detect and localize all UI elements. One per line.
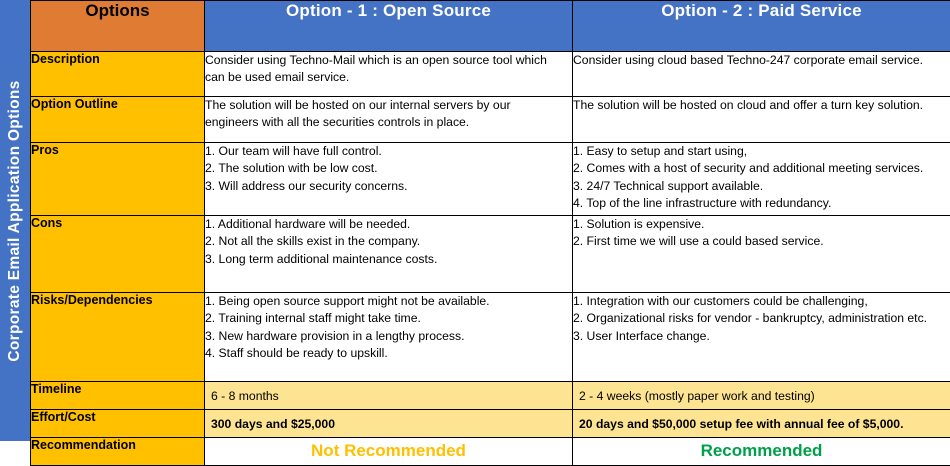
side-title-label: Corporate Email Application Options <box>6 80 24 361</box>
text-line: 1. Being open source support might not b… <box>205 293 572 310</box>
text-line: 2. Comes with a host of security and add… <box>573 160 950 177</box>
text-lines: 1. Easy to setup and start using,2. Come… <box>573 143 950 212</box>
text-line: Consider using Techno-Mail which is an o… <box>205 52 572 69</box>
text-lines: Consider using Techno-Mail which is an o… <box>205 52 572 87</box>
recommendation-badge-option-1: Not Recommended <box>205 438 573 466</box>
row-label-risks-dependencies: Risks/Dependencies <box>31 293 205 382</box>
cell-option-outline-option-1: The solution will be hosted on our inter… <box>205 97 573 143</box>
text-line: 2 - 4 weeks (mostly paper work and testi… <box>579 389 944 404</box>
options-comparison-table: Options Option - 1 : Open Source Option … <box>30 0 950 466</box>
table-row-timeline: Timeline 6 - 8 months 2 - 4 weeks (mostl… <box>31 382 950 410</box>
comparison-table-wrapper: Options Option - 1 : Open Source Option … <box>30 0 950 441</box>
row-label-cons: Cons <box>31 216 205 293</box>
cell-effort-cost-option-1: 300 days and $25,000 <box>205 410 573 438</box>
text-lines: 2 - 4 weeks (mostly paper work and testi… <box>579 389 944 404</box>
text-line: 3. New hardware provision in a lengthy p… <box>205 328 572 345</box>
table-header-row: Options Option - 1 : Open Source Option … <box>31 1 950 52</box>
table-row-recommendation: Recommendation Not Recommended Recommend… <box>31 438 950 466</box>
text-lines: 1. Our team will have full control.2. Th… <box>205 143 572 195</box>
text-line: 3. Will address our security concerns. <box>205 178 572 195</box>
row-label-option-outline: Option Outline <box>31 97 205 143</box>
text-line: 2. First time we will use a could based … <box>573 233 950 250</box>
text-lines: 1. Integration with our customers could … <box>573 293 950 345</box>
text-line: 1. Integration with our customers could … <box>573 293 950 310</box>
text-line: 300 days and $25,000 <box>211 417 566 432</box>
cell-effort-cost-option-2: 20 days and $50,000 setup fee with annua… <box>573 410 950 438</box>
cell-description-option-2: Consider using cloud based Techno-247 co… <box>573 52 950 97</box>
recommendation-badge-option-2: Recommended <box>573 438 950 466</box>
text-line: can be used email service. <box>205 69 572 86</box>
table-row-option-outline: Option Outline The solution will be host… <box>31 97 950 143</box>
cell-description-option-1: Consider using Techno-Mail which is an o… <box>205 52 573 97</box>
text-line: 2. The solution with be low cost. <box>205 160 572 177</box>
row-label-effort-cost: Effort/Cost <box>31 410 205 438</box>
text-line: 20 days and $50,000 setup fee with annua… <box>579 417 944 432</box>
text-line: 2. Training internal staff might take ti… <box>205 310 572 327</box>
table-row-cons: Cons 1. Additional hardware will be need… <box>31 216 950 293</box>
table-row-effort-cost: Effort/Cost 300 days and $25,000 20 days… <box>31 410 950 438</box>
text-lines: The solution will be hosted on our inter… <box>205 97 572 132</box>
cell-option-outline-option-2: The solution will be hosted on cloud and… <box>573 97 950 143</box>
text-line: 4. Top of the line infrastructure with r… <box>573 195 950 212</box>
table-row-pros: Pros 1. Our team will have full control.… <box>31 143 950 216</box>
text-lines: 300 days and $25,000 <box>211 417 566 432</box>
row-label-timeline: Timeline <box>31 382 205 410</box>
cell-timeline-option-2: 2 - 4 weeks (mostly paper work and testi… <box>573 382 950 410</box>
text-line: engineers with all the securities contro… <box>205 114 572 131</box>
text-line: 1. Additional hardware will be needed. <box>205 216 572 233</box>
text-line: 4. Staff should be ready to upskill. <box>205 345 572 362</box>
text-lines: The solution will be hosted on cloud and… <box>573 97 950 114</box>
text-lines: 1. Being open source support might not b… <box>205 293 572 362</box>
header-cell-option-1: Option - 1 : Open Source <box>205 1 573 52</box>
cell-risks-option-2: 1. Integration with our customers could … <box>573 293 950 382</box>
table-row-risks-dependencies: Risks/Dependencies 1. Being open source … <box>31 293 950 382</box>
cell-pros-option-1: 1. Our team will have full control.2. Th… <box>205 143 573 216</box>
text-line: 1. Easy to setup and start using, <box>573 143 950 160</box>
text-lines: 20 days and $50,000 setup fee with annua… <box>579 417 944 432</box>
text-line: 3. User Interface change. <box>573 328 950 345</box>
text-line: The solution will be hosted on our inter… <box>205 97 572 114</box>
cell-cons-option-1: 1. Additional hardware will be needed.2.… <box>205 216 573 293</box>
text-line: 6 - 8 months <box>211 389 566 404</box>
text-lines: 1. Additional hardware will be needed.2.… <box>205 216 572 268</box>
text-lines: 6 - 8 months <box>211 389 566 404</box>
header-cell-options: Options <box>31 1 205 52</box>
text-line: 2. Organizational risks for vendor - ban… <box>573 310 950 327</box>
text-line: 1. Solution is expensive. <box>573 216 950 233</box>
side-title-band: Corporate Email Application Options <box>0 0 30 441</box>
options-comparison-page: Corporate Email Application Options Opti… <box>0 0 950 441</box>
text-lines: 1. Solution is expensive.2. First time w… <box>573 216 950 251</box>
row-label-pros: Pros <box>31 143 205 216</box>
text-line: 1. Our team will have full control. <box>205 143 572 160</box>
text-line: Consider using cloud based Techno-247 co… <box>573 52 950 69</box>
row-label-description: Description <box>31 52 205 97</box>
header-cell-option-2: Option - 2 : Paid Service <box>573 1 950 52</box>
cell-cons-option-2: 1. Solution is expensive.2. First time w… <box>573 216 950 293</box>
cell-timeline-option-1: 6 - 8 months <box>205 382 573 410</box>
cell-pros-option-2: 1. Easy to setup and start using,2. Come… <box>573 143 950 216</box>
cell-risks-option-1: 1. Being open source support might not b… <box>205 293 573 382</box>
text-lines: Consider using cloud based Techno-247 co… <box>573 52 950 69</box>
text-line: The solution will be hosted on cloud and… <box>573 97 950 114</box>
text-line: 3. 24/7 Technical support available. <box>573 178 950 195</box>
text-line: 3. Long term additional maintenance cost… <box>205 251 572 268</box>
text-line: 2. Not all the skills exist in the compa… <box>205 233 572 250</box>
table-row-description: Description Consider using Techno-Mail w… <box>31 52 950 97</box>
row-label-recommendation: Recommendation <box>31 438 205 466</box>
